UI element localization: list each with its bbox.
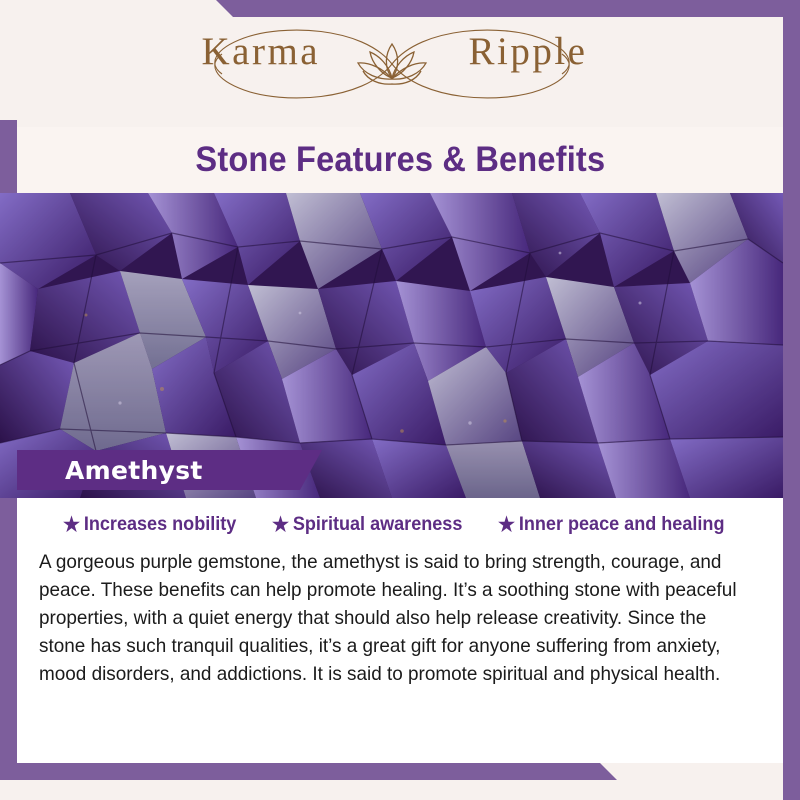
stone-description: A gorgeous purple gemstone, the amethyst… [39, 548, 739, 688]
star-icon: ★ [272, 515, 289, 535]
content-card: ★ Increases nobility ★ Spiritual awarene… [17, 498, 783, 763]
benefit-item-3: ★ Inner peace and healing [498, 514, 724, 536]
page-title: Stone Features & Benefits [195, 140, 605, 180]
benefit-label-2: Spiritual awareness [293, 514, 463, 536]
benefit-item-1: ★ Increases nobility [63, 514, 236, 536]
infographic-page: Karma Ripple Stone Features & Benefits [0, 0, 800, 800]
star-icon: ★ [63, 515, 80, 535]
stone-name-ribbon: Amethyst [17, 450, 322, 490]
stone-name-label: Amethyst [17, 456, 203, 485]
brand-name-left: Karma [202, 32, 321, 71]
benefit-label-1: Increases nobility [84, 514, 236, 536]
headline-band: Stone Features & Benefits [17, 127, 783, 193]
benefit-item-2: ★ Spiritual awareness [272, 514, 462, 536]
benefits-list: ★ Increases nobility ★ Spiritual awarene… [17, 498, 783, 536]
brand-logo: Karma Ripple [0, 0, 783, 125]
star-icon: ★ [498, 515, 515, 535]
benefit-label-3: Inner peace and healing [519, 514, 725, 536]
brand-name-right: Ripple [469, 32, 588, 71]
